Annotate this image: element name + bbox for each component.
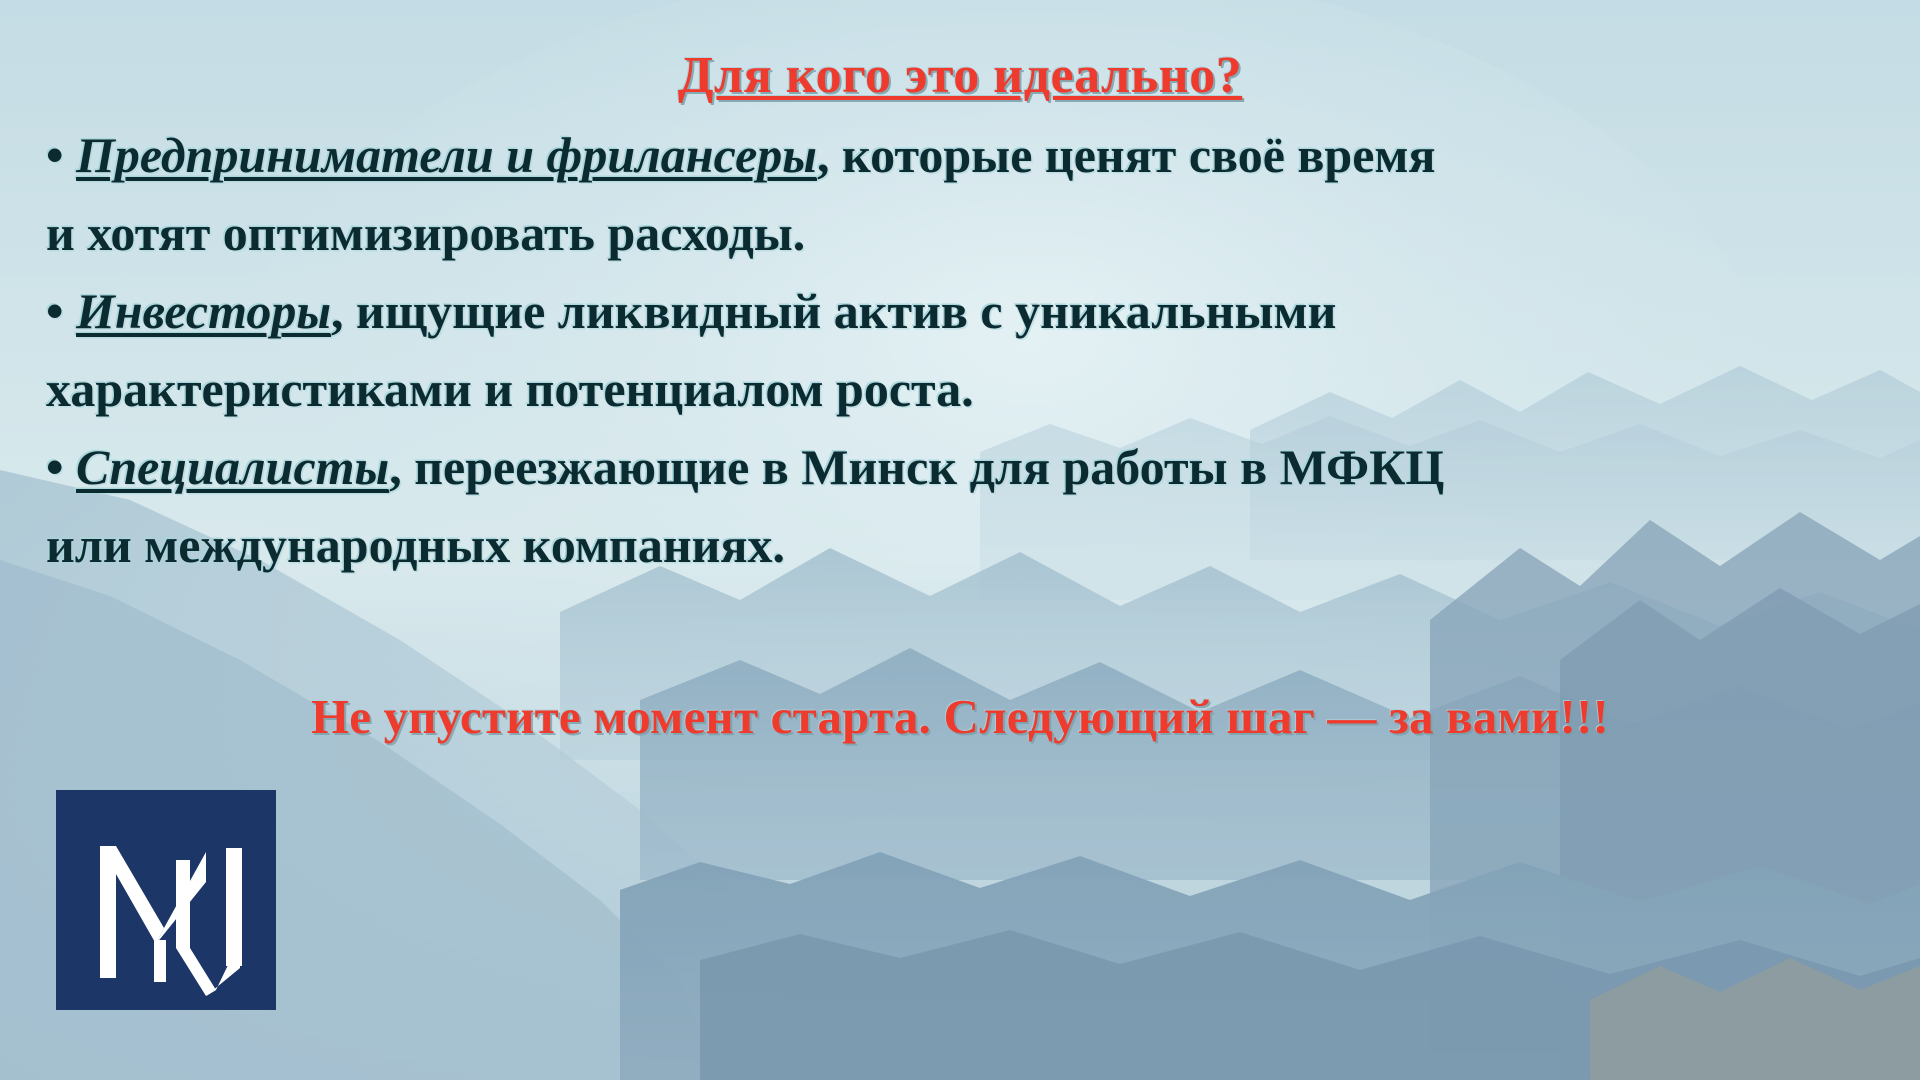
bullet-item-2-continuation: характеристиками и потенциалом роста. <box>46 350 1886 428</box>
bullet-marker-2: • <box>46 283 64 339</box>
bullet-item-2: • Инвесторы, ищущие ликвидный актив с ун… <box>46 272 1886 350</box>
bullet-item-1-continuation: и хотят оптимизировать расходы. <box>46 194 1886 272</box>
call-to-action-text: Не упустите момент старта. Следующий шаг… <box>0 688 1920 745</box>
bullet-term-2: Инвесторы <box>76 283 331 339</box>
bullet-marker-1: • <box>46 127 64 183</box>
mw-monogram-icon <box>56 790 276 1010</box>
bullet-rest-3: , переезжающие в Минск для работы в МФКЦ <box>389 439 1444 495</box>
bullet-rest-2: , ищущие ликвидный актив с уникальными <box>331 283 1336 339</box>
bullet-marker-3: • <box>46 439 64 495</box>
bullet-term-3: Специалисты <box>76 439 389 495</box>
slide-title: Для кого это идеально? <box>0 46 1920 105</box>
slide-content: Для кого это идеально? • Предприниматели… <box>0 0 1920 1080</box>
bullet-rest-1: , которые ценят своё время <box>817 127 1436 183</box>
slide-canvas: Для кого это идеально? • Предприниматели… <box>0 0 1920 1080</box>
bullet-term-1: Предприниматели и фрилансеры <box>76 127 817 183</box>
bullet-list: • Предприниматели и фрилансеры, которые … <box>46 116 1886 584</box>
brand-logo <box>56 790 276 1010</box>
slide-title-text: Для кого это идеально? <box>678 47 1242 104</box>
bullet-item-3: • Специалисты, переезжающие в Минск для … <box>46 428 1886 506</box>
bullet-item-3-continuation: или международных компаниях. <box>46 506 1886 584</box>
bullet-item-1: • Предприниматели и фрилансеры, которые … <box>46 116 1886 194</box>
